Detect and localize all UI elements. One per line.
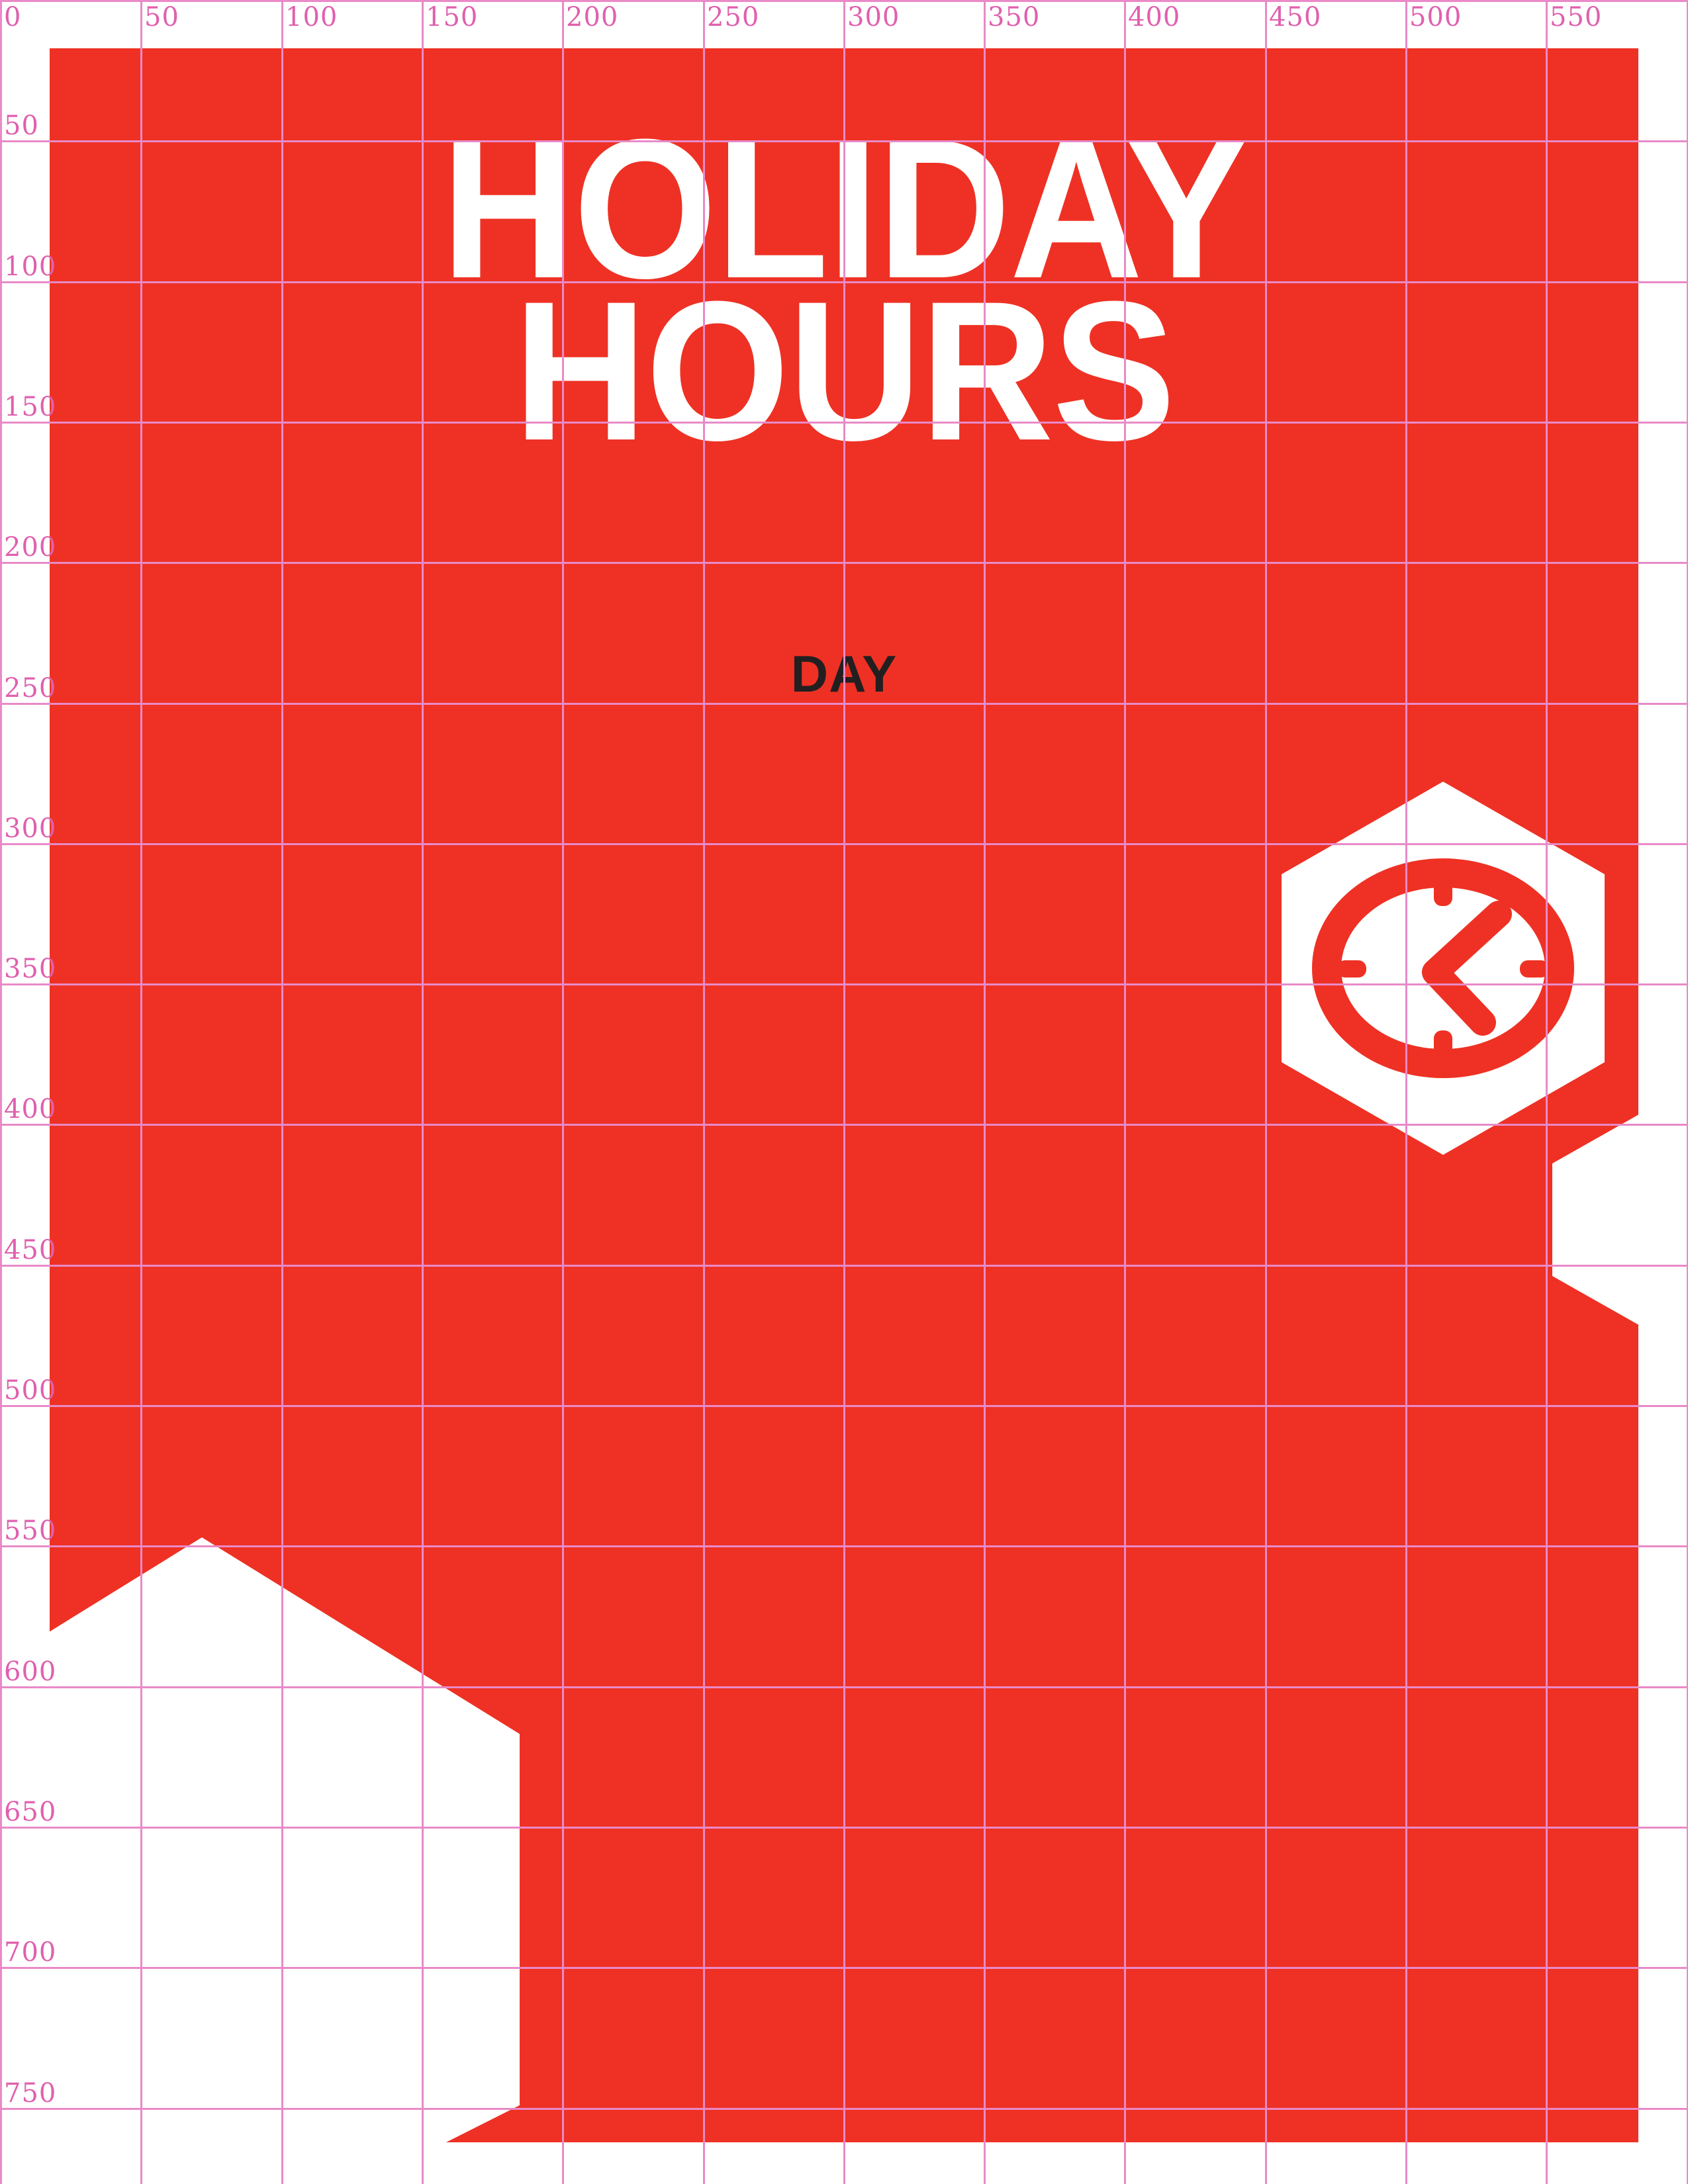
- ruler-label-x: 0: [4, 4, 21, 30]
- ruler-label-y: 50: [4, 113, 39, 139]
- title-line-2: HOURS: [105, 290, 1583, 452]
- clock-icon: [1271, 776, 1615, 1160]
- ruler-label-x: 450: [1269, 4, 1321, 30]
- ruler-label-x: 50: [144, 4, 179, 30]
- grid-line-horizontal: [0, 0, 1688, 2]
- grid-line-vertical: [0, 0, 2, 2184]
- ruler-label-x: 200: [566, 4, 618, 30]
- ruler-label-x: 350: [988, 4, 1040, 30]
- ruler-label-y: 150: [4, 394, 56, 420]
- ruler-label-y: 700: [4, 1939, 56, 1966]
- poster-title: HOLIDAY HOURS: [50, 128, 1638, 452]
- ruler-label-x: 250: [707, 4, 759, 30]
- ruler-label-y: 550: [4, 1518, 56, 1544]
- hexagon-large-decor: [50, 1537, 520, 2142]
- ruler-label-y: 400: [4, 1096, 56, 1122]
- ruler-label-x: 550: [1550, 4, 1602, 30]
- ruler-label-y: 300: [4, 815, 56, 842]
- ruler-label-y: 450: [4, 1237, 56, 1263]
- ruler-label-x: 100: [285, 4, 338, 30]
- ruler-label-x: 400: [1128, 4, 1180, 30]
- ruler-label-y: 350: [4, 956, 56, 982]
- ruler-label-y: 600: [4, 1659, 56, 1685]
- ruler-label-y: 500: [4, 1377, 56, 1404]
- ruler-label-y: 200: [4, 534, 56, 561]
- poster-canvas: HOLIDAY HOURS DAY: [50, 48, 1638, 2142]
- ruler-label-x: 300: [847, 4, 900, 30]
- ruler-label-x: 500: [1409, 4, 1462, 30]
- ruler-label-y: 650: [4, 1799, 56, 1825]
- ruler-label-x: 150: [426, 4, 478, 30]
- ruler-label-y: 750: [4, 2080, 56, 2107]
- ruler-label-y: 100: [4, 253, 56, 280]
- poster-subheading: DAY: [50, 644, 1638, 704]
- ruler-label-y: 250: [4, 675, 56, 702]
